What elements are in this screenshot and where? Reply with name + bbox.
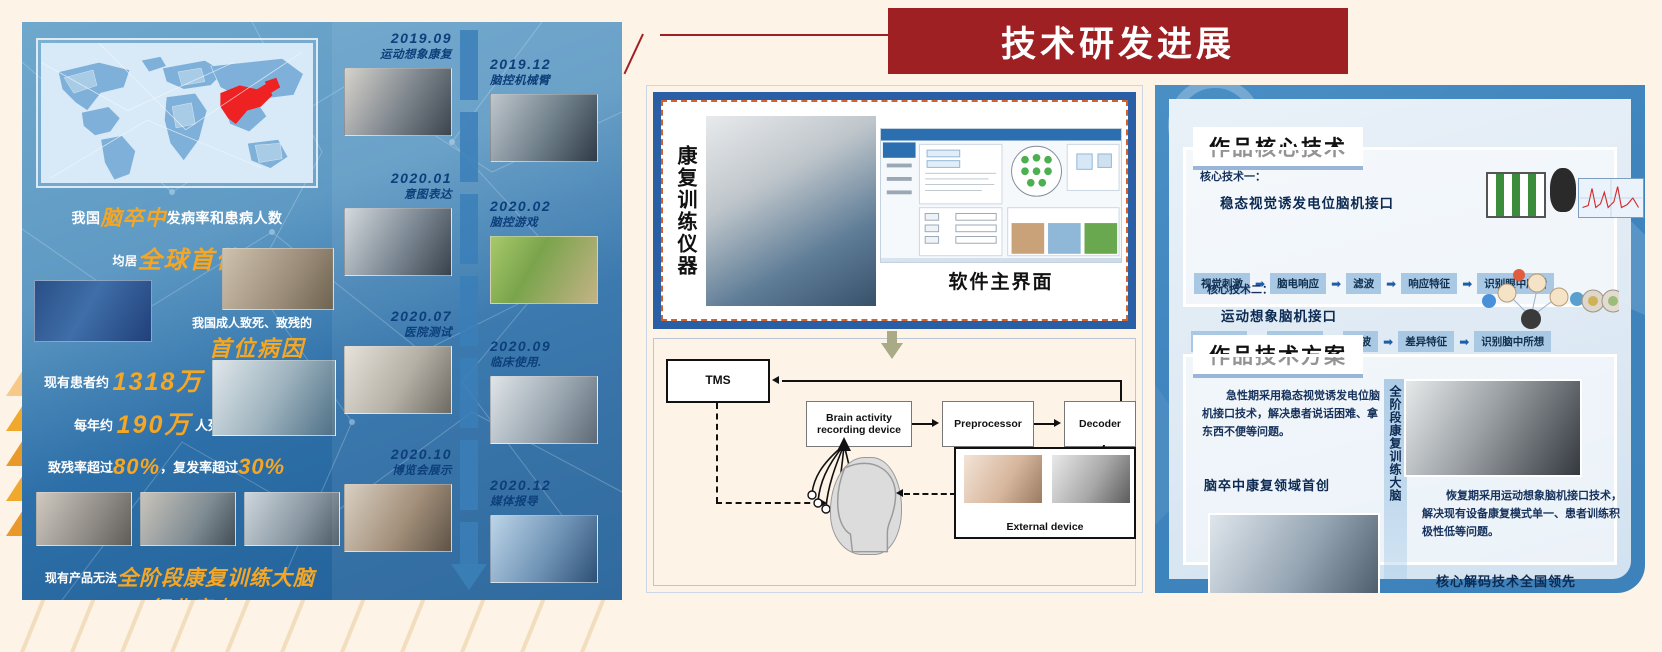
software-screenshot bbox=[880, 128, 1122, 263]
scheme-card: 急性期采用稳态视觉诱发电位脑机接口技术，解决患者说话困难、拿东西不便等问题。 脑… bbox=[1183, 354, 1617, 565]
timeline-photo bbox=[344, 208, 452, 276]
flow-box-tms: TMS bbox=[666, 359, 770, 403]
flow-line-feedback bbox=[782, 380, 1122, 382]
tech1-label: 核心技术一： bbox=[1200, 168, 1266, 184]
photo-hospital-ward bbox=[212, 360, 336, 436]
flow-line-1 bbox=[912, 423, 934, 425]
timeline-date: 2019.12 bbox=[490, 56, 620, 74]
pain1-big: 全阶段康复训练大脑 bbox=[117, 567, 315, 590]
tech1-name: 稳态视觉诱发电位脑机接口 bbox=[1220, 192, 1394, 212]
rate-mid: ，复发率超过 bbox=[160, 460, 238, 475]
poster-headline-1: 我国脑卒中发病率和患病人数 bbox=[32, 202, 322, 232]
photo-recovery-phase-robot bbox=[1404, 379, 1582, 477]
pipeline-arrow-icon: ➡ bbox=[1331, 277, 1341, 291]
timeline-photo bbox=[490, 515, 598, 583]
stat-deaths-num: 190万 bbox=[117, 411, 192, 439]
photo-rehab-machine bbox=[706, 116, 876, 306]
timeline-item-3: 2020.01 意图表达 bbox=[334, 170, 452, 276]
flow-dash-tms-down bbox=[716, 403, 718, 503]
down-arrow-head-icon bbox=[881, 343, 903, 359]
flow-box-decoder: Decoder bbox=[1064, 401, 1136, 447]
timeline-item-8: 2020.12 媒体报导 bbox=[490, 477, 620, 583]
pipeline-arrow-icon: ➡ bbox=[1383, 335, 1393, 349]
timeline-label: 脑控机械臂 bbox=[490, 74, 620, 90]
timeline-item-7: 2020.10 博览会展示 bbox=[334, 446, 452, 552]
cause-big: 首位病因 bbox=[172, 331, 342, 363]
head-profile-icon bbox=[831, 458, 901, 554]
eeg-waveform-icon bbox=[1579, 179, 1643, 217]
flow-arrow-to-tms bbox=[772, 376, 779, 384]
timeline-date: 2020.09 bbox=[490, 338, 620, 356]
timeline-label: 意图表达 bbox=[334, 188, 452, 204]
timeline-photo bbox=[344, 484, 452, 552]
title-box: 技术研发进展 bbox=[888, 8, 1348, 74]
headline2-pre: 均居 bbox=[112, 254, 137, 268]
section-title: 技术研发进展 bbox=[660, 4, 1360, 84]
scheme-left-highlight: 脑卒中康复领域首创 bbox=[1204, 475, 1330, 494]
photo-arm-device bbox=[36, 492, 132, 546]
timeline-item-4: 2020.02 脑控游戏 bbox=[490, 198, 620, 304]
photo-eeg-training bbox=[140, 492, 236, 546]
head-silhouette-icon bbox=[830, 457, 902, 555]
timeline-date: 2019.09 bbox=[334, 30, 452, 48]
motor-imagery-illustration bbox=[1459, 267, 1619, 329]
stat-patients-pre: 现有患者约 bbox=[44, 375, 109, 390]
flow-dash-external-head bbox=[904, 493, 956, 495]
pipeline-step: 脑电响应 bbox=[1270, 273, 1326, 294]
pain1-pre: 现有产品无法 bbox=[45, 571, 117, 585]
stat-deaths: 每年约 190万 人死亡 bbox=[74, 405, 234, 441]
tech2-name: 运动想象脑机接口 bbox=[1221, 305, 1337, 325]
stat-patients-num: 1318万 bbox=[113, 368, 204, 396]
rate-num2: 30% bbox=[238, 454, 285, 479]
stat-patients: 现有患者约 1318万 bbox=[44, 362, 203, 398]
photo-acute-phase-training bbox=[1208, 513, 1380, 593]
timeline-column: 2019.09 运动想象康复 2019.12 脑控机械臂 2020.01 意图表… bbox=[332, 22, 622, 600]
timeline-label: 医院测试 bbox=[334, 326, 452, 342]
software-caption: 软件主界面 bbox=[948, 267, 1053, 294]
flow-box-preprocessor: Preprocessor bbox=[942, 401, 1034, 447]
stat-deaths-pre: 每年约 bbox=[74, 418, 113, 433]
timeline-item-1: 2019.09 运动想象康复 bbox=[334, 30, 452, 136]
photo-row-bottom bbox=[36, 492, 340, 546]
software-ui-mock bbox=[881, 129, 1121, 259]
timeline-label: 博览会展示 bbox=[334, 464, 452, 480]
rate-pre1: 致残率超过 bbox=[48, 460, 113, 475]
timeline-date: 2020.10 bbox=[334, 446, 452, 464]
cause-line: 我国成人致死、致残的 bbox=[172, 314, 332, 331]
timeline-label: 临床使用. bbox=[490, 356, 620, 372]
timeline-item-5: 2020.07 医院测试 bbox=[334, 308, 452, 414]
flow-arrow-1 bbox=[932, 419, 939, 427]
pain-point-line-1: 现有产品无法全阶段康复训练大脑 bbox=[30, 562, 330, 592]
device-showcase: 康复训练仪器 bbox=[653, 92, 1136, 329]
flow-arrow-external-head bbox=[896, 489, 903, 497]
timeline-arrow bbox=[460, 30, 478, 590]
eeg-waveform-chart bbox=[1578, 178, 1644, 218]
flow-box-external-device: External device bbox=[954, 447, 1136, 539]
timeline-item-2: 2019.12 脑控机械臂 bbox=[490, 56, 620, 162]
bci-flow-diagram: TMS Brain activity recording device Prep… bbox=[653, 338, 1136, 586]
scheme-right-body: 恢复期采用运动想象脑机接口技术，解决现有设备康复模式单一、患者训练积极性低等问题… bbox=[1422, 487, 1628, 541]
timeline-photo bbox=[490, 94, 598, 162]
right-panel: 作品核心技术 核心技术一： 稳态视觉诱发电位脑机接口 视觉刺激 ➡ 脑电响应 ➡… bbox=[1155, 85, 1645, 593]
photo-rehab-session bbox=[244, 492, 340, 546]
photo-news-anchor bbox=[34, 280, 152, 342]
pain-point-line-2: 已成行业痛点 bbox=[30, 592, 330, 600]
tech2-label: 核心技术二： bbox=[1207, 281, 1273, 297]
stat-rates: 致残率超过80%，复发率超过30% bbox=[48, 454, 285, 480]
timeline-photo bbox=[344, 346, 452, 414]
headline1-pre: 我国 bbox=[72, 210, 101, 226]
device-label: 康复训练仪器 bbox=[671, 145, 700, 277]
scheme-right-highlight: 核心解码技术全国领先 bbox=[1436, 571, 1576, 590]
timeline-date: 2020.07 bbox=[334, 308, 452, 326]
external-device-label: External device bbox=[956, 521, 1134, 533]
flow-line-2 bbox=[1034, 423, 1056, 425]
headline1-post: 发病率和患病人数 bbox=[167, 210, 283, 226]
timeline-date: 2020.12 bbox=[490, 477, 620, 495]
world-map-frame bbox=[36, 38, 318, 188]
scheme-left-body: 急性期采用稳态视觉诱发电位脑机接口技术，解决患者说话困难、拿东西不便等问题。 bbox=[1202, 387, 1382, 441]
pipeline-arrow-icon: ➡ bbox=[1459, 335, 1469, 349]
timeline-label: 媒体报导 bbox=[490, 495, 620, 511]
pipeline-step: 响应特征 bbox=[1401, 273, 1457, 294]
timeline-label: 脑控游戏 bbox=[490, 216, 620, 232]
photo-fes-stimulator bbox=[964, 455, 1042, 503]
timeline-photo bbox=[490, 376, 598, 444]
flow-arrow-2 bbox=[1054, 419, 1061, 427]
pipeline-step: 滤波 bbox=[1346, 273, 1381, 294]
pipeline-arrow-icon: ➡ bbox=[1386, 277, 1396, 291]
timeline-date: 2020.01 bbox=[334, 170, 452, 188]
pain2-big: 行业痛点 bbox=[149, 598, 233, 600]
subject-head-icon bbox=[1550, 168, 1576, 212]
timeline-label: 运动想象康复 bbox=[334, 48, 452, 64]
rate-num1: 80% bbox=[113, 454, 160, 479]
timeline-photo bbox=[490, 236, 598, 304]
title-text: 技术研发进展 bbox=[1001, 16, 1235, 67]
headline1-big: 脑卒中 bbox=[101, 207, 167, 230]
pipeline-step: 差异特征 bbox=[1398, 331, 1454, 352]
world-map bbox=[41, 43, 313, 183]
photo-robotic-hand bbox=[1052, 455, 1130, 503]
left-poster: 我国脑卒中发病率和患病人数 均居全球首位 我国成人致死、致残的 首位病因 现有患… bbox=[22, 22, 622, 600]
timeline-item-6: 2020.09 临床使用. bbox=[490, 338, 620, 444]
title-slash bbox=[623, 34, 643, 75]
timeline-photo bbox=[344, 68, 452, 136]
photo-clinic-consult bbox=[222, 248, 334, 310]
pipeline-step: 识别脑中所想 bbox=[1474, 331, 1551, 352]
middle-panel: 康复训练仪器 bbox=[646, 85, 1143, 593]
stimulus-monitor-icon bbox=[1486, 172, 1546, 218]
timeline-date: 2020.02 bbox=[490, 198, 620, 216]
